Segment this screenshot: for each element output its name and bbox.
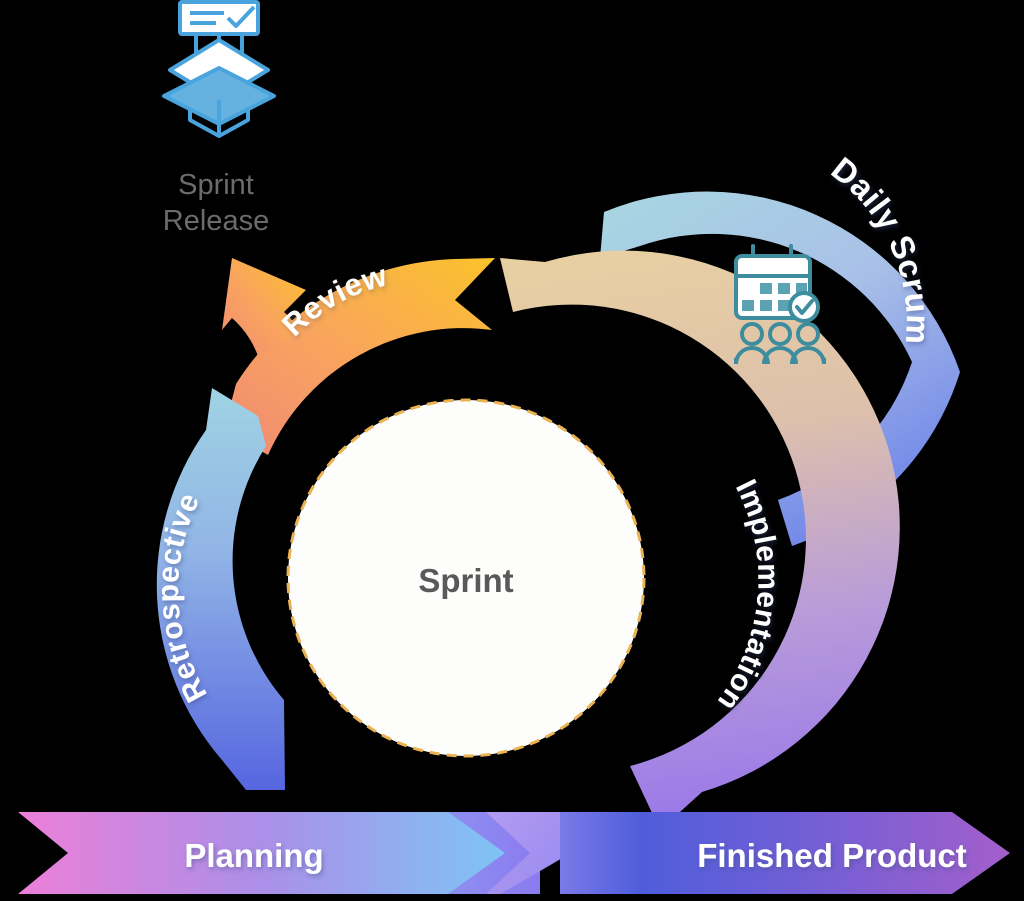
sprint-release-caption-line1: Sprint (178, 169, 254, 201)
finished-product-banner[interactable]: Finished Product (486, 812, 1010, 894)
sprint-release-caption-line2: Release (163, 205, 269, 237)
sprint-release-icon-group[interactable]: Sprint Release (163, 2, 274, 237)
planning-banner[interactable]: Planning (18, 812, 540, 894)
finished-product-banner-label: Finished Product (697, 837, 967, 874)
diagram-canvas: Sprint Review Implementation Retrospecti… (0, 0, 1024, 901)
sprint-center[interactable]: Sprint (288, 400, 644, 756)
scrum-cycle-diagram: Sprint Review Implementation Retrospecti… (0, 0, 1024, 901)
calendar-with-team-icon (736, 246, 824, 364)
open-box-with-checklist-icon (164, 2, 274, 136)
planning-banner-label: Planning (184, 837, 323, 874)
sprint-center-label: Sprint (418, 562, 513, 599)
